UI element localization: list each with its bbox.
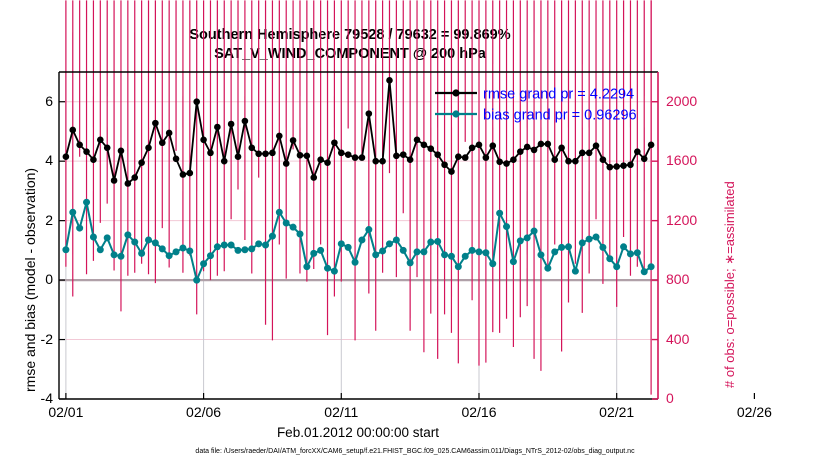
x-tick-label: 02/21 bbox=[587, 404, 647, 420]
x-tick-label: 02/26 bbox=[724, 404, 784, 420]
x-tick-label: 02/16 bbox=[449, 404, 509, 420]
x-tick-label: 02/01 bbox=[36, 404, 96, 420]
legend-entry-label: bias grand pr = 0.96296 bbox=[483, 108, 637, 124]
y-tick-label-right: 0 bbox=[666, 390, 714, 406]
y-tick-label-right: 1200 bbox=[666, 212, 714, 228]
y-tick-label-right: 1600 bbox=[666, 152, 714, 168]
y-tick-label-right: 800 bbox=[666, 271, 714, 287]
y-tick-label-left: -2 bbox=[8, 331, 53, 347]
bias-series-line bbox=[63, 199, 655, 283]
legend-entry-label: rmse grand pr = 4.2294 bbox=[483, 87, 634, 103]
x-tick-label: 02/11 bbox=[311, 404, 371, 420]
y-tick-label-right: 2000 bbox=[666, 93, 714, 109]
y-tick-label-right: 400 bbox=[666, 331, 714, 347]
y-tick-label-left: 6 bbox=[8, 93, 53, 109]
x-tick-label: 02/06 bbox=[174, 404, 234, 420]
y-tick-label-left: 2 bbox=[8, 212, 53, 228]
y-tick-label-left: 4 bbox=[8, 152, 53, 168]
obs-assimilated-markers bbox=[66, 0, 651, 370]
figure-chart: Southern Hemisphere 79528 / 79632 = 99.8… bbox=[0, 0, 830, 470]
y-tick-label-left: 0 bbox=[8, 271, 53, 287]
